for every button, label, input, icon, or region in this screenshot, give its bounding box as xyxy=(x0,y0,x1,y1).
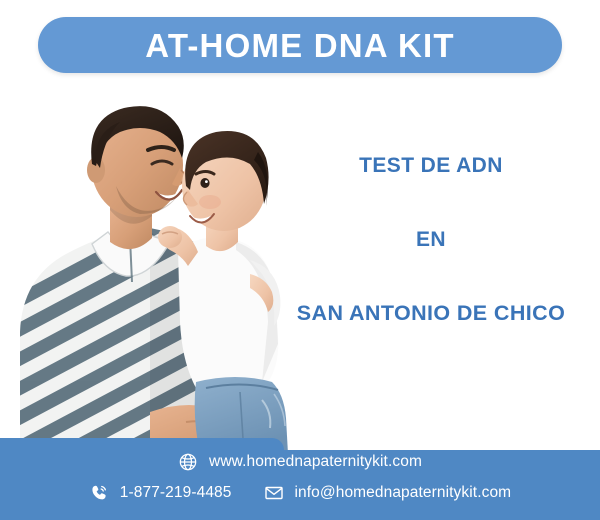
phone-icon xyxy=(89,483,109,503)
headline-block: TEST DE ADN EN SAN ANTONIO DE CHICO xyxy=(262,155,600,325)
footer-row-website: www.homednapaternitykit.com xyxy=(0,452,600,472)
hero-photo xyxy=(0,82,300,454)
email-label: info@homednapaternitykit.com xyxy=(295,485,512,501)
email-contact[interactable]: info@homednapaternitykit.com xyxy=(264,483,512,503)
globe-icon xyxy=(178,452,198,472)
envelope-icon xyxy=(264,483,284,503)
footer-row-phone-email: 1-877-219-4485 info@homednapaternitykit.… xyxy=(0,483,600,503)
banner-title: AT-HOME DNA KIT xyxy=(145,29,454,62)
banner-pill: AT-HOME DNA KIT xyxy=(38,17,562,73)
phone-label: 1-877-219-4485 xyxy=(120,485,232,501)
phone-contact[interactable]: 1-877-219-4485 xyxy=(89,483,232,503)
poster-canvas: AT-HOME DNA KIT xyxy=(0,0,600,520)
footer-contact-bar: www.homednapaternitykit.com 1-877-219-44… xyxy=(0,438,600,520)
website-label: www.homednapaternitykit.com xyxy=(209,454,422,470)
headline-line-3: SAN ANTONIO DE CHICO xyxy=(262,303,600,325)
website-contact[interactable]: www.homednapaternitykit.com xyxy=(178,452,422,472)
headline-line-1: TEST DE ADN xyxy=(262,155,600,176)
headline-line-2: EN xyxy=(262,229,600,250)
